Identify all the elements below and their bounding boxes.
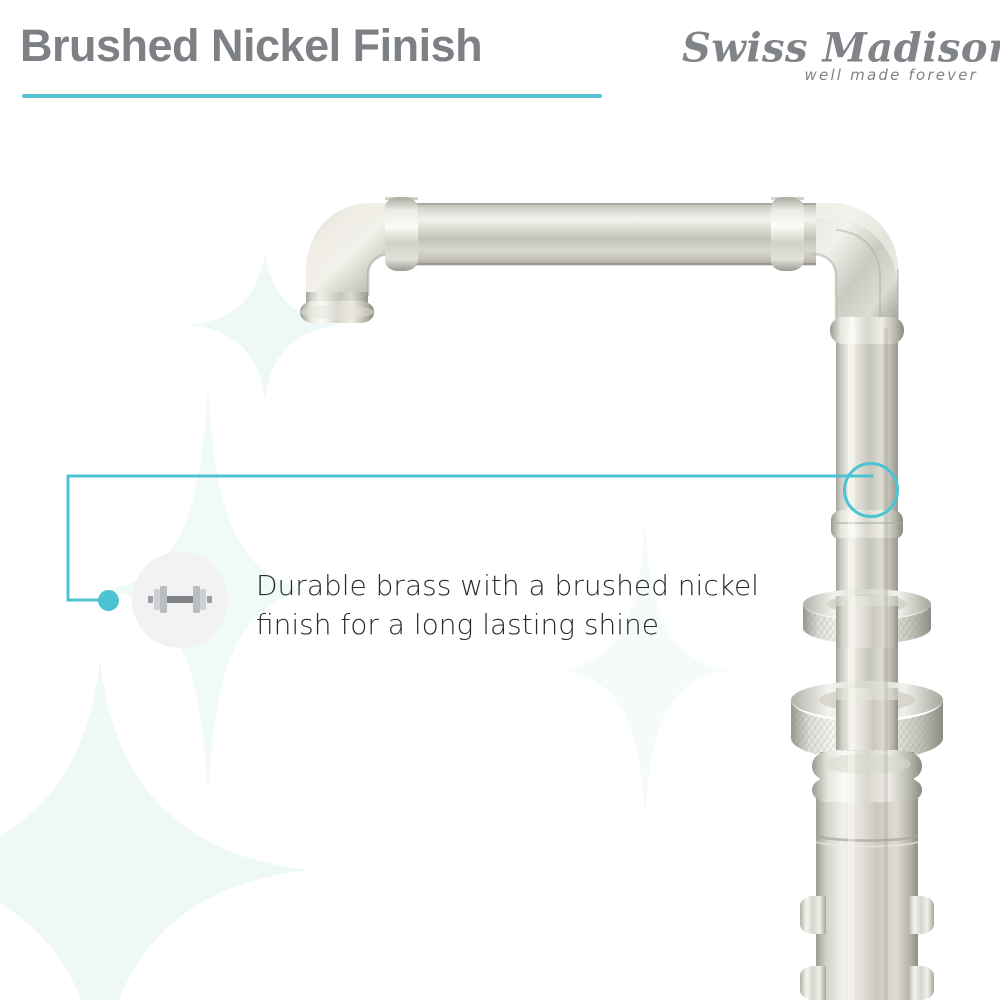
product-feature-card: Brushed Nickel Finish Swiss Madison® wel…: [0, 0, 1000, 1000]
feature-description: Durable brass with a brushed nickel fini…: [256, 566, 796, 644]
feature-icon-badge: [132, 552, 228, 648]
dumbbell-icon: [146, 578, 214, 622]
product-highlight-ring: [843, 462, 899, 518]
callout-leader-dot: [98, 590, 119, 611]
